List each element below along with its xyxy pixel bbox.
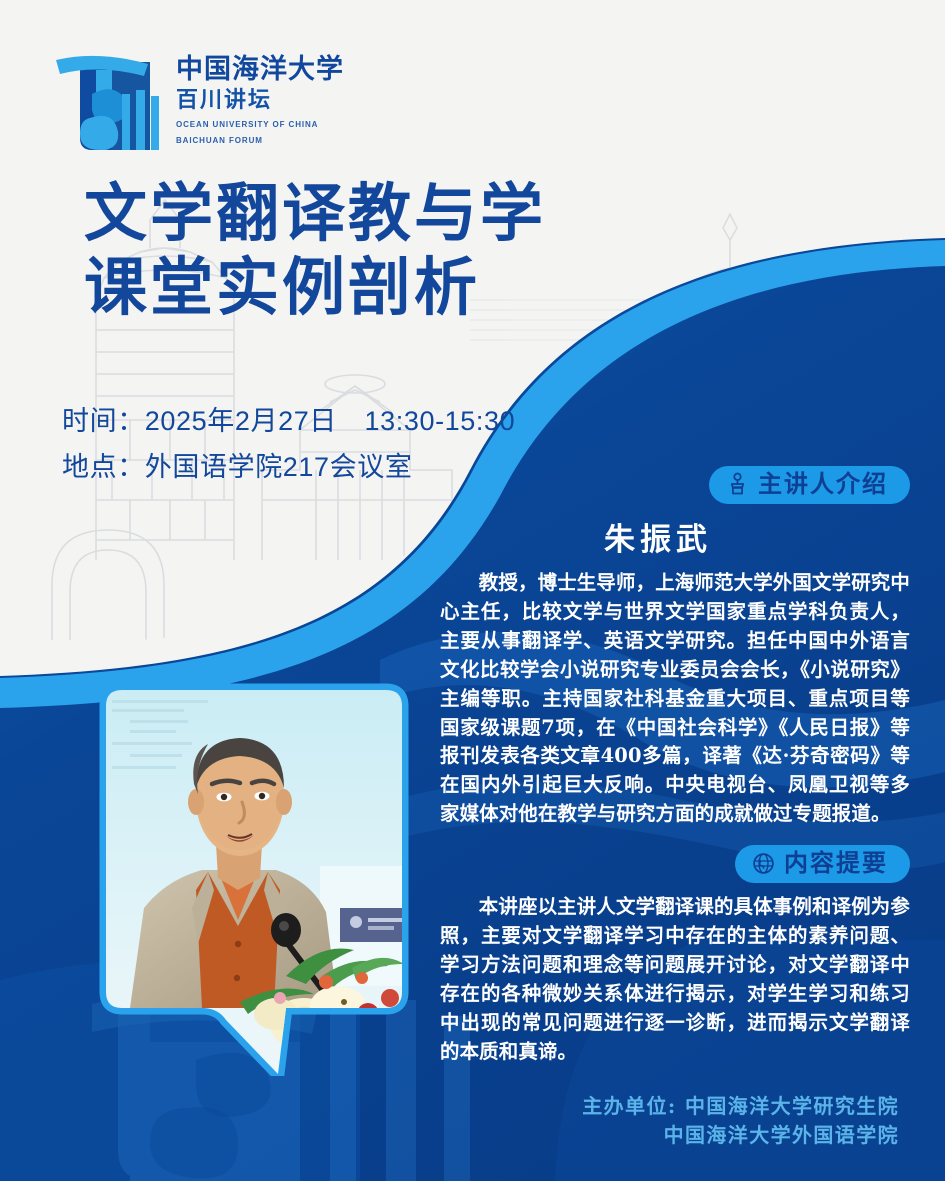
- logo-forum-en: BAICHUAN FORUM: [176, 135, 356, 147]
- logo-university-cn: 中国海洋大学: [176, 56, 356, 84]
- poster-root: 中国海洋大学 百川讲坛 OCEAN UNIVERSITY OF CHINA BA…: [0, 0, 945, 1181]
- speaker-bio: 教授，博士生导师，上海师范大学外国文学研究中心主任，比较文学与世界文学国家重点学…: [440, 569, 910, 829]
- speaker-podium-icon: [725, 472, 750, 497]
- speaker-section-badge: 主讲人介绍: [709, 466, 910, 504]
- speaker-photo: [90, 676, 420, 1076]
- globe-icon: [751, 851, 776, 876]
- organizer-line-2: 中国海洋大学外国语学院: [479, 1121, 899, 1150]
- title-line-2: 课堂实例剖析: [84, 250, 684, 324]
- abstract-section-badge: 内容提要: [735, 845, 910, 883]
- photo-frame: [90, 676, 420, 1076]
- logo-forum-cn: 百川讲坛: [176, 87, 356, 113]
- brand-logo: 中国海洋大学 百川讲坛 OCEAN UNIVERSITY OF CHINA BA…: [52, 46, 352, 156]
- logo-university-en: OCEAN UNIVERSITY OF CHINA: [176, 119, 356, 131]
- speaker-badge-label: 主讲人介绍: [758, 473, 888, 497]
- poster-title: 文学翻译教与学 课堂实例剖析: [84, 176, 684, 325]
- speaker-badge-row: 主讲人介绍: [440, 466, 910, 504]
- title-line-1: 文学翻译教与学: [84, 176, 684, 250]
- right-content-column: 主讲人介绍 朱振武 教授，博士生导师，上海师范大学外国文学研究中心主任，比较文学…: [440, 466, 910, 1067]
- organizers: 主办单位: 中国海洋大学研究生院 中国海洋大学外国语学院: [479, 1092, 899, 1150]
- abstract-badge-label: 内容提要: [784, 852, 888, 876]
- event-time: 时间：2025年2月27日 13:30-15:30: [62, 398, 582, 444]
- abstract-text: 本讲座以主讲人文学翻译课的具体事例和译例为参照，主要对文学翻译学习中存在的主体的…: [440, 893, 910, 1066]
- ouc-baichuan-logo-mark: [52, 46, 172, 156]
- speaker-portrait-photo: [90, 676, 420, 1076]
- abstract-badge-row: 内容提要: [440, 845, 910, 883]
- speaker-name: 朱振武: [440, 514, 910, 559]
- organizer-line-1: 主办单位: 中国海洋大学研究生院: [479, 1092, 899, 1121]
